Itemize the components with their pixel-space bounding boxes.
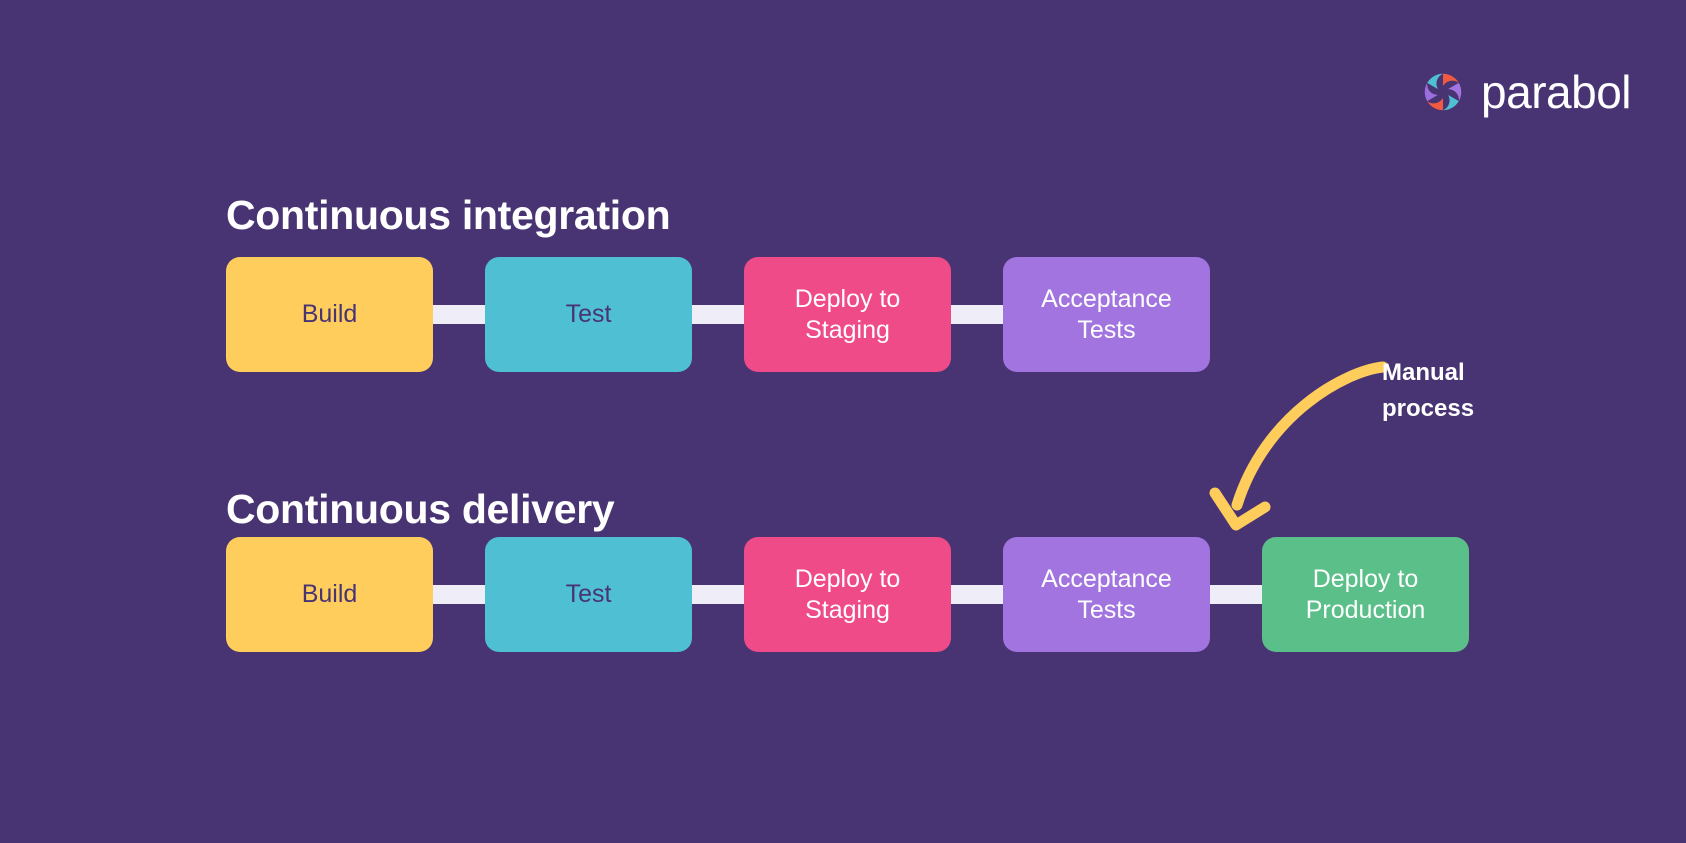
stage-test[interactable]: Test (485, 537, 692, 652)
stage-build[interactable]: Build (226, 537, 433, 652)
stage-label: AcceptanceTests (1041, 564, 1172, 625)
stage-label: Build (302, 299, 358, 330)
stage-label: AcceptanceTests (1041, 284, 1172, 345)
stage-label: Test (566, 579, 612, 610)
annotation-line-1: Manual (1382, 355, 1542, 391)
manual-process-annotation: Manual process (1382, 355, 1542, 427)
connector (1210, 585, 1262, 604)
connector (951, 585, 1003, 604)
section-title-continuous-delivery: Continuous delivery (226, 486, 614, 533)
stage-deploy-to-staging[interactable]: Deploy toStaging (744, 537, 951, 652)
connector (692, 585, 744, 604)
parabol-logo: parabol (1419, 68, 1631, 116)
stage-label: Test (566, 299, 612, 330)
connector (951, 305, 1003, 324)
diagram-canvas: parabol Continuous integration Build Tes… (0, 0, 1686, 843)
connector (692, 305, 744, 324)
parabol-wordmark: parabol (1481, 69, 1631, 115)
connector (433, 585, 485, 604)
stage-deploy-to-production[interactable]: Deploy toProduction (1262, 537, 1469, 652)
parabol-pinwheel-icon (1419, 68, 1467, 116)
pipeline-continuous-delivery: Build Test Deploy toStaging AcceptanceTe… (226, 537, 1469, 652)
stage-acceptance-tests[interactable]: AcceptanceTests (1003, 537, 1210, 652)
pipeline-continuous-integration: Build Test Deploy toStaging AcceptanceTe… (226, 257, 1210, 372)
stage-label: Deploy toProduction (1306, 564, 1426, 625)
stage-label: Deploy toStaging (795, 564, 901, 625)
stage-deploy-to-staging[interactable]: Deploy toStaging (744, 257, 951, 372)
annotation-line-2: process (1382, 391, 1542, 427)
stage-acceptance-tests[interactable]: AcceptanceTests (1003, 257, 1210, 372)
stage-label: Deploy toStaging (795, 284, 901, 345)
connector (433, 305, 485, 324)
section-title-continuous-integration: Continuous integration (226, 192, 670, 239)
stage-build[interactable]: Build (226, 257, 433, 372)
stage-test[interactable]: Test (485, 257, 692, 372)
stage-label: Build (302, 579, 358, 610)
